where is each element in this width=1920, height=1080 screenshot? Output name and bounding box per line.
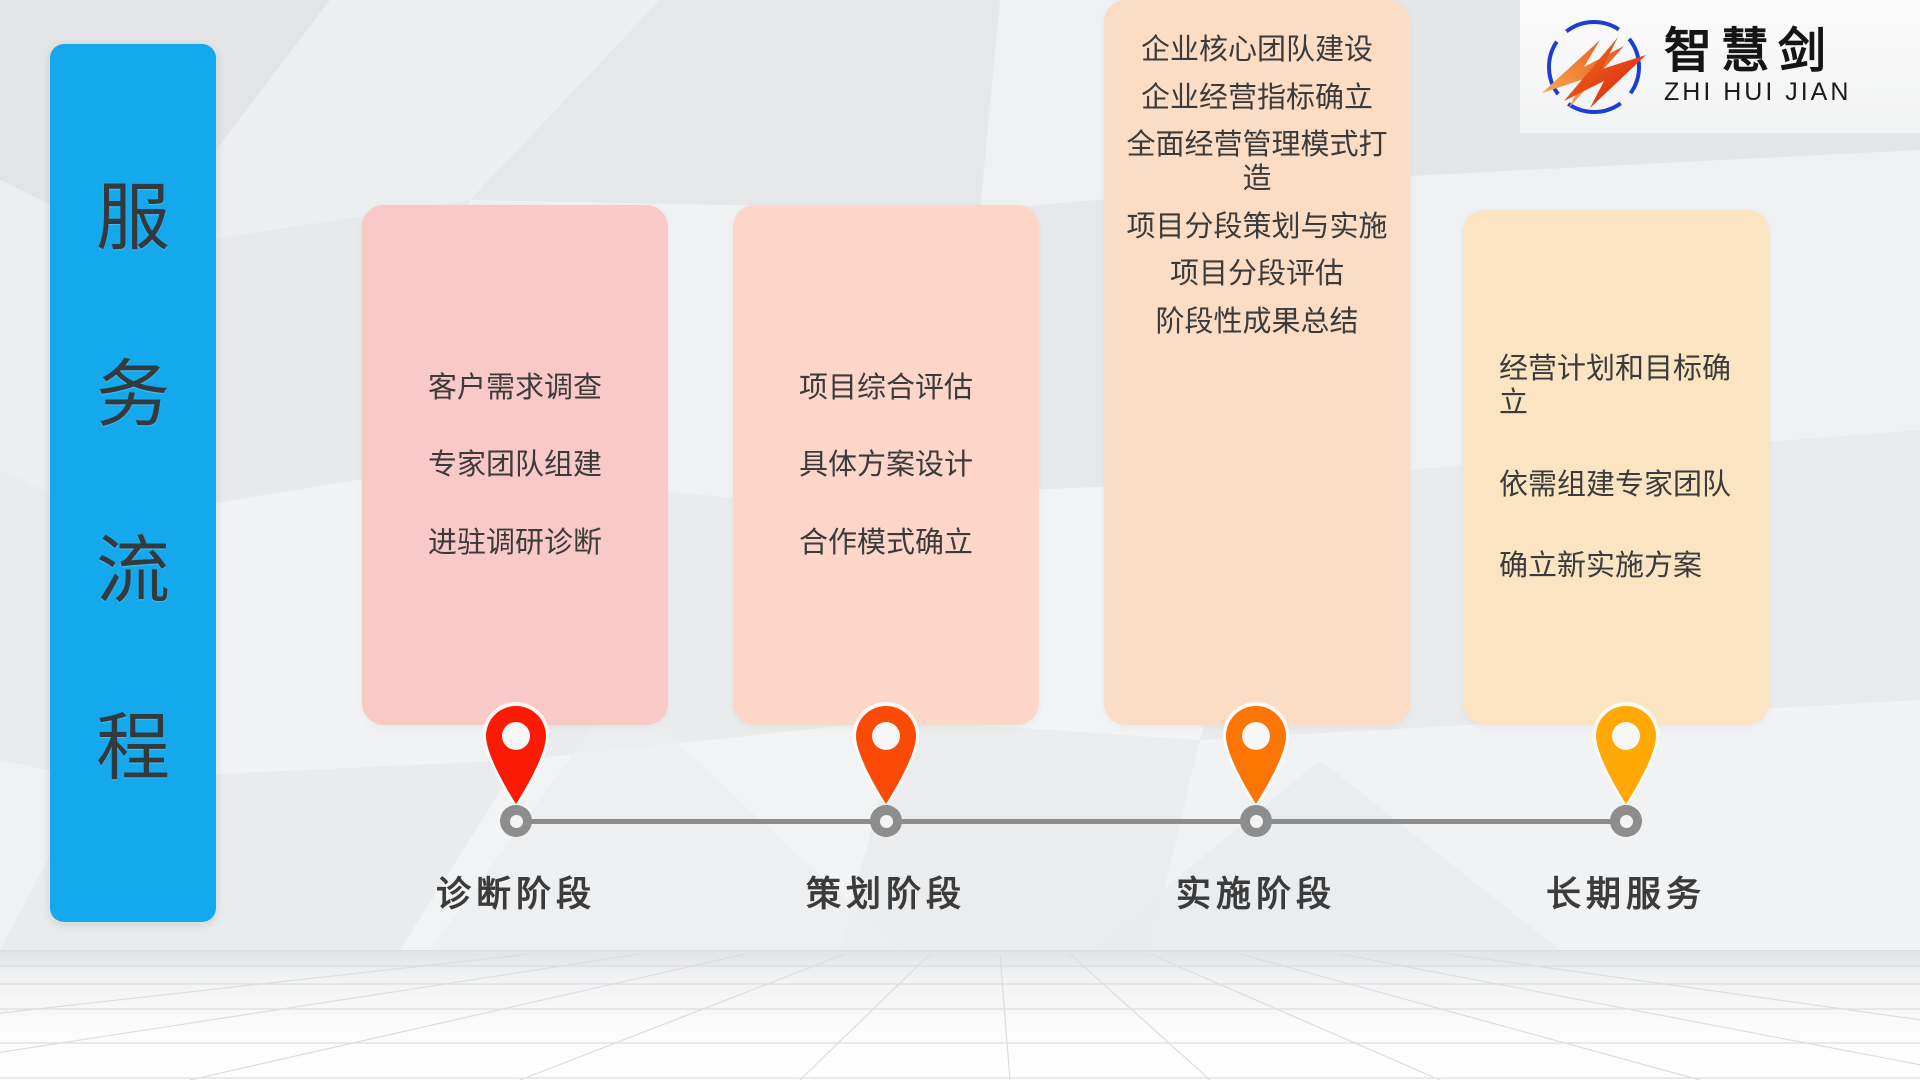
timeline-node-diagnosis[interactable] bbox=[500, 805, 532, 837]
planning-card[interactable]: 项目综合评估 具体方案设计 合作模式确立 bbox=[733, 205, 1039, 725]
timeline-axis bbox=[510, 819, 1617, 824]
node-dot bbox=[880, 815, 893, 828]
card-line: 阶段性成果总结 bbox=[1118, 305, 1396, 339]
timeline-node-planning[interactable] bbox=[870, 805, 902, 837]
floor-grid bbox=[0, 950, 1920, 1080]
map-pin-icon-planning[interactable] bbox=[847, 700, 925, 812]
card-line: 进驻调研诊断 bbox=[376, 526, 654, 560]
stage-label-implementation: 实施阶段 bbox=[1096, 866, 1416, 917]
long-term-service-card[interactable]: 经营计划和目标确立 依需组建专家团队 确立新实施方案 bbox=[1463, 210, 1769, 725]
card-line: 确立新实施方案 bbox=[1499, 549, 1755, 583]
card-line: 客户需求调查 bbox=[376, 371, 654, 405]
map-pin-icon-implementation[interactable] bbox=[1217, 700, 1295, 812]
card-line: 企业核心团队建设 bbox=[1118, 33, 1396, 67]
map-pin-icon-diagnosis[interactable] bbox=[477, 700, 555, 812]
diagnosis-card[interactable]: 客户需求调查 专家团队组建 进驻调研诊断 bbox=[362, 205, 668, 725]
stage-label-long-term: 长期服务 bbox=[1466, 866, 1786, 917]
service-process-banner: 服 务 流 程 bbox=[50, 44, 216, 922]
floor-horizon-line bbox=[0, 950, 1920, 953]
logo-chinese-name: 智慧剑 bbox=[1664, 26, 1851, 76]
card-line: 企业经营指标确立 bbox=[1118, 81, 1396, 115]
card-line: 全面经营管理模式打造 bbox=[1118, 128, 1396, 195]
lightning-bolt-icon bbox=[1538, 11, 1650, 123]
node-dot bbox=[1620, 815, 1633, 828]
card-line: 合作模式确立 bbox=[747, 526, 1025, 560]
banner-char-1: 服 bbox=[96, 181, 170, 255]
card-line: 项目分段策划与实施 bbox=[1118, 210, 1396, 244]
card-line: 依需组建专家团队 bbox=[1499, 468, 1755, 502]
banner-char-4: 程 bbox=[96, 711, 170, 785]
card-line: 经营计划和目标确立 bbox=[1499, 352, 1755, 419]
stage-label-planning: 策划阶段 bbox=[726, 866, 1046, 917]
banner-char-2: 务 bbox=[96, 358, 170, 432]
logo-pinyin: ZHI HUI JIAN bbox=[1664, 78, 1851, 107]
logo-wordmark: 智慧剑 ZHI HUI JIAN bbox=[1664, 26, 1851, 107]
company-logo: 智慧剑 ZHI HUI JIAN bbox=[1520, 0, 1920, 133]
implementation-card[interactable]: 企业核心团队建设 企业经营指标确立 全面经营管理模式打造 项目分段策划与实施 项… bbox=[1104, 0, 1410, 725]
banner-char-3: 流 bbox=[96, 534, 170, 608]
card-line: 专家团队组建 bbox=[376, 448, 654, 482]
timeline-node-long-term[interactable] bbox=[1610, 805, 1642, 837]
node-dot bbox=[510, 815, 523, 828]
card-line: 项目综合评估 bbox=[747, 371, 1025, 405]
map-pin-icon-long-term[interactable] bbox=[1587, 700, 1665, 812]
perspective-floor bbox=[0, 950, 1920, 1080]
node-dot bbox=[1250, 815, 1263, 828]
timeline-node-implementation[interactable] bbox=[1240, 805, 1272, 837]
stage-label-diagnosis: 诊断阶段 bbox=[356, 866, 676, 917]
card-line: 项目分段评估 bbox=[1118, 257, 1396, 291]
card-line: 具体方案设计 bbox=[747, 448, 1025, 482]
